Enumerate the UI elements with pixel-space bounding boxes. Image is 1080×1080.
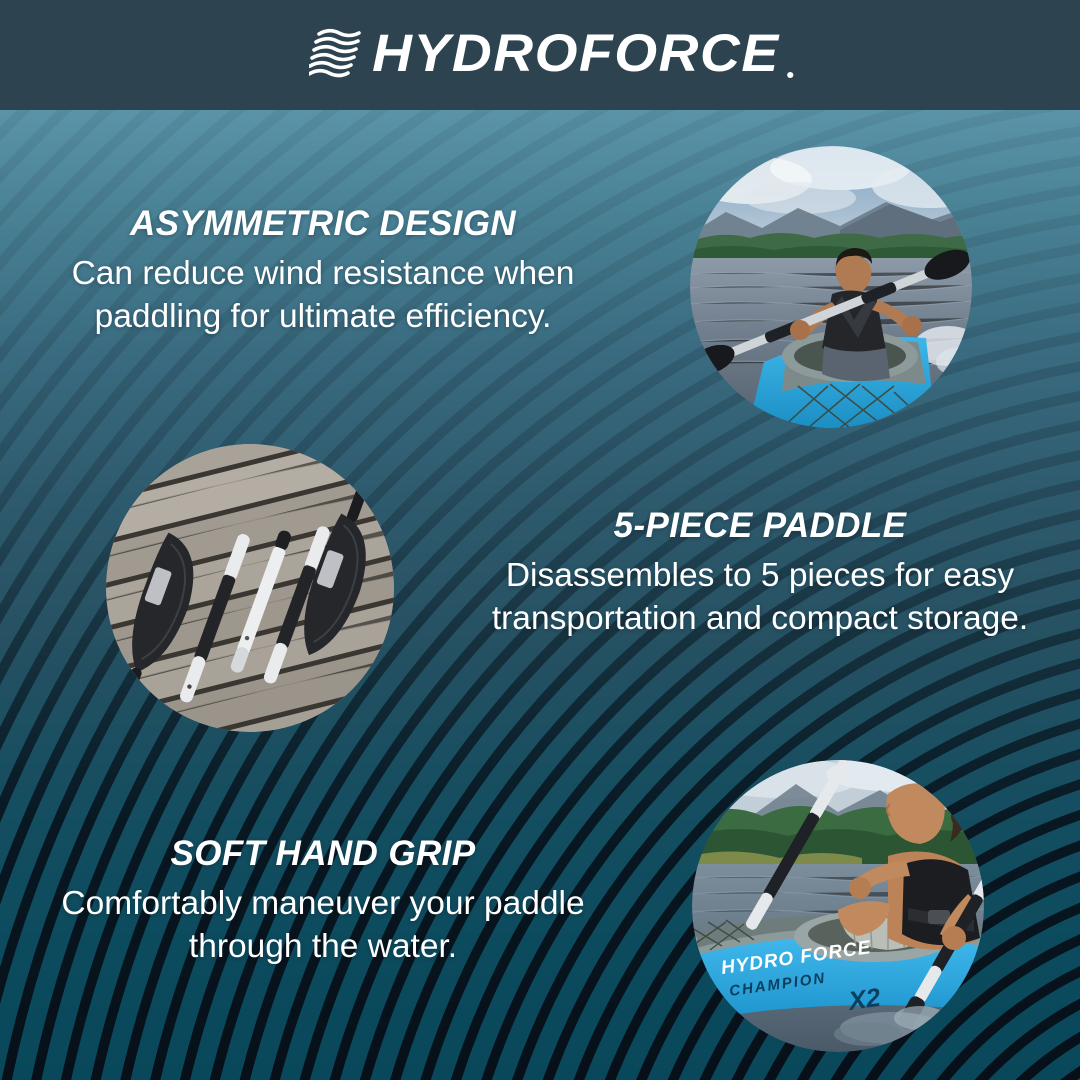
registered-trademark-icon	[787, 72, 793, 78]
feature-heading: 5-PIECE PADDLE	[490, 508, 1030, 544]
feature-heading: ASYMMETRIC DESIGN	[58, 206, 588, 242]
feature-5-piece-paddle-text: 5-PIECE PADDLE Disassembles to 5 pieces …	[490, 508, 1030, 640]
feature-body: Comfortably maneuver your paddle through…	[58, 883, 588, 967]
woman-kayaking-champion-x2-photo: HYDRO FORCE CHAMPION X2	[692, 760, 984, 1052]
feature-heading: SOFT HAND GRIP	[58, 836, 588, 872]
feature-soft-hand-grip-text: SOFT HAND GRIP Comfortably maneuver your…	[58, 836, 588, 968]
infographic-page: HYDROFORCE	[0, 0, 1080, 1080]
wordmark-text: HYDROFORCE	[372, 24, 780, 83]
hydro-force-logo: HYDROFORCE	[309, 23, 772, 84]
hull-model-variant-text: X2	[845, 982, 883, 1016]
disassembled-paddle-on-dock-photo	[106, 444, 394, 732]
feature-asymmetric-design-text: ASYMMETRIC DESIGN Can reduce wind resist…	[58, 206, 588, 338]
wave-lines-icon	[309, 26, 371, 80]
man-kayaking-on-lake-photo	[690, 146, 972, 428]
hydro-force-wordmark: HYDROFORCE	[372, 23, 780, 84]
feature-body: Can reduce wind resistance when paddling…	[58, 253, 588, 337]
brand-header: HYDROFORCE	[0, 0, 1080, 110]
feature-body: Disassembles to 5 pieces for easy transp…	[490, 555, 1030, 639]
